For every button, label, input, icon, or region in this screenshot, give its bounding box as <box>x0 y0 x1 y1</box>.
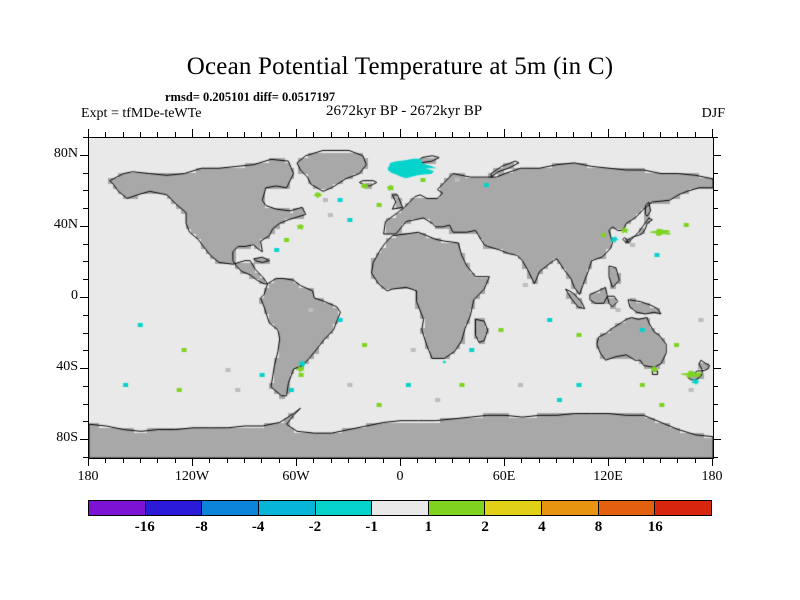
xtick-minor <box>105 458 106 463</box>
xtick-minor-top <box>105 132 106 137</box>
season-annotation: DJF <box>702 106 725 122</box>
xtick-minor <box>677 458 678 463</box>
ytick-minor-right <box>713 421 718 422</box>
colorbar-tick-label: 2 <box>481 519 489 536</box>
xtick-minor-top <box>539 132 540 137</box>
colorbar-cell-3 <box>259 501 316 515</box>
xtick-minor <box>279 458 280 463</box>
xtick-minor <box>417 458 418 463</box>
xtick-minor <box>539 458 540 463</box>
xtick-minor-top <box>157 132 158 137</box>
xtick-minor <box>209 458 210 463</box>
xtick-minor <box>365 458 366 463</box>
xtick-minor <box>261 458 262 463</box>
xtick-minor-top <box>140 132 141 137</box>
ytick-minor <box>83 137 88 138</box>
y-axis-tick-label: 0 <box>22 288 78 304</box>
statistics-annotation: rmsd= 0.205101 diff= 0.0517197 <box>165 90 335 105</box>
xtick-minor-top <box>417 132 418 137</box>
experiment-annotation: Expt = tfMDe-teWTe <box>81 106 201 122</box>
figure-canvas: Ocean Potential Temperature at 5m (in C)… <box>0 0 800 600</box>
xtick-minor <box>469 458 470 463</box>
colorbar-cell-7 <box>485 501 542 515</box>
y-axis-tick-label: 40S <box>22 359 78 375</box>
colorbar-cell-8 <box>542 501 599 515</box>
x-axis-tick-label: 0 <box>360 469 440 485</box>
xtick-minor <box>400 458 401 466</box>
colorbar-tick-label: 8 <box>595 519 603 536</box>
xtick-minor-top <box>435 132 436 137</box>
y-axis-tick-label: 80N <box>22 146 78 162</box>
xtick-minor-top <box>452 132 453 137</box>
ytick-minor <box>83 404 88 405</box>
colorbar-tick-label: -2 <box>309 519 322 536</box>
ytick-minor-right <box>713 315 718 316</box>
ytick-minor-right <box>713 190 718 191</box>
ytick-minor <box>80 368 88 369</box>
xtick-minor-top <box>192 129 193 137</box>
ytick-minor-right <box>713 155 721 156</box>
xtick-minor <box>296 458 297 466</box>
xtick-minor <box>695 458 696 463</box>
colorbar-cell-0 <box>89 501 146 515</box>
xtick-minor <box>504 458 505 466</box>
colorbar-cell-6 <box>429 501 486 515</box>
ytick-minor <box>83 333 88 334</box>
xtick-minor-top <box>591 132 592 137</box>
xtick-minor <box>556 458 557 463</box>
ytick-minor <box>80 439 88 440</box>
xtick-minor-top <box>677 132 678 137</box>
period-annotation: 2672kyr BP - 2672kyr BP <box>326 103 482 120</box>
xtick-minor <box>625 458 626 463</box>
xtick-minor-top <box>643 132 644 137</box>
xtick-minor <box>383 458 384 463</box>
ytick-minor <box>83 350 88 351</box>
xtick-minor-top <box>383 132 384 137</box>
xtick-minor-top <box>487 132 488 137</box>
xtick-minor <box>88 458 89 466</box>
ytick-minor-right <box>713 137 718 138</box>
colorbar-gradient <box>88 500 712 516</box>
ytick-minor-right <box>713 208 718 209</box>
xtick-minor-top <box>469 132 470 137</box>
xtick-minor <box>643 458 644 463</box>
xtick-minor <box>175 458 176 463</box>
xtick-minor-top <box>209 132 210 137</box>
xtick-minor <box>331 458 332 463</box>
xtick-minor <box>313 458 314 463</box>
xtick-minor-top <box>573 132 574 137</box>
xtick-minor <box>608 458 609 466</box>
x-axis-tick-label: 120W <box>152 469 232 485</box>
xtick-minor <box>227 458 228 463</box>
xtick-minor <box>192 458 193 466</box>
ytick-minor <box>83 386 88 387</box>
xtick-minor-top <box>227 132 228 137</box>
ytick-minor-right <box>713 368 721 369</box>
xtick-minor <box>452 458 453 463</box>
xtick-minor-top <box>504 129 505 137</box>
xtick-minor-top <box>695 132 696 137</box>
xtick-minor <box>123 458 124 463</box>
xtick-minor-top <box>556 132 557 137</box>
colorbar-cell-5 <box>372 501 429 515</box>
colorbar-cell-9 <box>599 501 656 515</box>
xtick-minor-top <box>175 132 176 137</box>
colorbar-tick-label: -4 <box>252 519 265 536</box>
ytick-minor-right <box>713 350 718 351</box>
xtick-minor-top <box>608 129 609 137</box>
colorbar-tick-label: 1 <box>425 519 433 536</box>
x-axis-tick-label: 60E <box>464 469 544 485</box>
xtick-minor-top <box>400 129 401 137</box>
ytick-minor-right <box>713 244 718 245</box>
page-title: Ocean Potential Temperature at 5m (in C) <box>0 53 800 81</box>
ytick-minor-right <box>713 297 721 298</box>
xtick-minor-top <box>244 132 245 137</box>
ytick-minor <box>83 190 88 191</box>
map-plot-area <box>88 137 714 459</box>
xtick-minor-top <box>313 132 314 137</box>
x-axis-tick-label: 60W <box>256 469 336 485</box>
xtick-minor <box>348 458 349 463</box>
x-axis-tick-label: 180 <box>48 469 128 485</box>
xtick-minor-top <box>331 132 332 137</box>
colorbar-tick-label: -16 <box>135 519 155 536</box>
xtick-minor <box>591 458 592 463</box>
xtick-minor-top <box>712 129 713 137</box>
ytick-minor <box>83 173 88 174</box>
ytick-minor-right <box>713 226 721 227</box>
colorbar <box>88 500 712 516</box>
ytick-minor <box>83 208 88 209</box>
colorbar-cell-10 <box>655 501 711 515</box>
ytick-minor <box>83 315 88 316</box>
xtick-minor-top <box>348 132 349 137</box>
world-map-heatmap <box>89 138 713 458</box>
xtick-minor-top <box>261 132 262 137</box>
xtick-minor-top <box>365 132 366 137</box>
x-axis-tick-label: 180 <box>672 469 752 485</box>
ytick-minor <box>80 155 88 156</box>
xtick-minor-top <box>279 132 280 137</box>
colorbar-tick-label: 4 <box>538 519 546 536</box>
ytick-minor-right <box>713 333 718 334</box>
xtick-minor <box>521 458 522 463</box>
ytick-minor-right <box>713 173 718 174</box>
ytick-minor <box>80 226 88 227</box>
ytick-minor-right <box>713 261 718 262</box>
ytick-minor <box>83 279 88 280</box>
xtick-minor-top <box>123 132 124 137</box>
xtick-minor <box>712 458 713 466</box>
ytick-minor <box>83 421 88 422</box>
ytick-minor-right <box>713 279 718 280</box>
ytick-minor-right <box>713 404 718 405</box>
x-axis-tick-label: 120E <box>568 469 648 485</box>
colorbar-cell-1 <box>146 501 203 515</box>
colorbar-tick-label: -8 <box>195 519 208 536</box>
xtick-minor-top <box>625 132 626 137</box>
xtick-minor <box>573 458 574 463</box>
xtick-minor <box>487 458 488 463</box>
ytick-minor <box>83 244 88 245</box>
xtick-minor-top <box>296 129 297 137</box>
xtick-minor <box>660 458 661 463</box>
xtick-minor <box>244 458 245 463</box>
ytick-minor-right <box>713 439 721 440</box>
ytick-minor <box>83 457 88 458</box>
ytick-minor-right <box>713 457 718 458</box>
colorbar-cell-4 <box>316 501 373 515</box>
xtick-minor-top <box>521 132 522 137</box>
xtick-minor <box>140 458 141 463</box>
colorbar-tick-label: 16 <box>648 519 663 536</box>
colorbar-tick-label: -1 <box>365 519 378 536</box>
y-axis-tick-label: 80S <box>22 430 78 446</box>
xtick-minor-top <box>660 132 661 137</box>
xtick-minor-top <box>88 129 89 137</box>
ytick-minor <box>80 297 88 298</box>
colorbar-cell-2 <box>202 501 259 515</box>
xtick-minor <box>157 458 158 463</box>
ytick-minor-right <box>713 386 718 387</box>
xtick-minor <box>435 458 436 463</box>
ytick-minor <box>83 261 88 262</box>
y-axis-tick-label: 40N <box>22 217 78 233</box>
